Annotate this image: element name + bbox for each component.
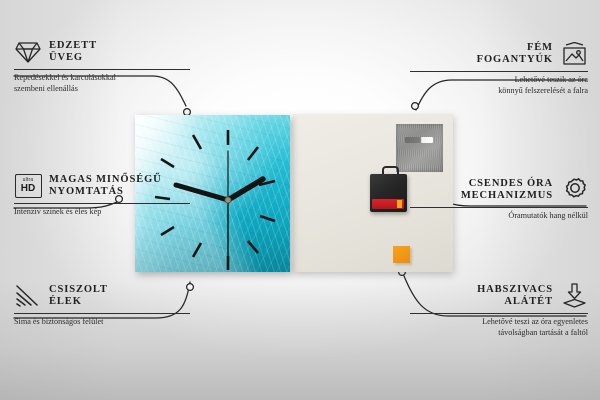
feature-edzett-uveg[interactable]: EDZETT ÜVEG Repedésekkel és karcolásokka… — [14, 38, 190, 94]
feature-divider — [14, 69, 190, 70]
polished-edges-icon — [14, 282, 42, 310]
connector-dot-fem-fogantyuk — [412, 103, 419, 110]
feature-title: HABSZIVACS ALÁTÉT — [477, 284, 553, 309]
orange-foam-pad — [393, 246, 410, 263]
feature-head: EDZETT ÜVEG — [14, 38, 190, 66]
feature-head: HABSZIVACS ALÁTÉT — [410, 282, 588, 310]
gear-icon — [560, 176, 588, 204]
feature-divider — [410, 313, 588, 314]
feature-fem-fogantyuk[interactable]: FÉM FOGANTYÚK Lehetővé teszik az óra kön… — [410, 40, 588, 96]
ultra-hd-icon-main-text: HD — [21, 184, 35, 194]
feature-head: FÉM FOGANTYÚK — [410, 40, 588, 68]
hanger-slot — [405, 137, 433, 143]
feature-description: Intenzív színek és éles kép — [14, 207, 190, 218]
diamond-icon — [14, 38, 42, 66]
feature-title: EDZETT ÜVEG — [49, 40, 97, 65]
feature-description: Lehetővé teszik az óra könnyű felszerelé… — [410, 75, 588, 96]
feature-title: FÉM FOGANTYÚK — [477, 42, 553, 67]
ultra-hd-icon: ultra HD — [14, 172, 42, 200]
infographic-canvas: EDZETT ÜVEG Repedésekkel és karcolásokka… — [0, 0, 600, 400]
feature-habszivacs-alatet[interactable]: HABSZIVACS ALÁTÉT Lehetővé teszi az óra … — [410, 282, 588, 338]
feature-title: CSISZOLT ÉLEK — [49, 284, 108, 309]
feature-divider — [14, 313, 190, 314]
feature-head: CSENDES ÓRA MECHANIZMUS — [410, 176, 588, 204]
mechanism-body — [370, 174, 407, 212]
clock-mechanism — [370, 170, 407, 212]
battery-terminal — [397, 200, 402, 208]
feature-head: ultra HD MAGAS MINŐSÉGŰ NYOMTATÁS — [14, 172, 190, 200]
metal-hanger-plate — [396, 124, 443, 172]
foam-pad-arrow-icon — [560, 282, 588, 310]
feature-description: Lehetővé teszi az óra egyenletes távolsá… — [410, 317, 588, 338]
feature-title: CSENDES ÓRA MECHANIZMUS — [461, 178, 553, 203]
feature-divider — [410, 71, 588, 72]
picture-frame-icon — [560, 40, 588, 68]
feature-description: Sima és biztonságos felület — [14, 317, 190, 328]
feature-csiszolt-elek[interactable]: CSISZOLT ÉLEK Sima és biztonságos felüle… — [14, 282, 190, 328]
feature-head: CSISZOLT ÉLEK — [14, 282, 190, 310]
battery — [372, 199, 404, 209]
feature-magas-minosegu-nyomtatas[interactable]: ultra HD MAGAS MINŐSÉGŰ NYOMTATÁS Intenz… — [14, 172, 190, 218]
feature-description: Repedésekkel és karcolásokkal szembeni e… — [14, 73, 190, 94]
feature-description: Óramutatók hang nélkül — [410, 211, 588, 222]
feature-title: MAGAS MINŐSÉGŰ NYOMTATÁS — [49, 174, 162, 199]
feature-divider — [14, 203, 190, 204]
feature-divider — [410, 207, 588, 208]
feature-csendes-ora-mechanizmus[interactable]: CSENDES ÓRA MECHANIZMUS Óramutatók hang … — [410, 176, 588, 222]
